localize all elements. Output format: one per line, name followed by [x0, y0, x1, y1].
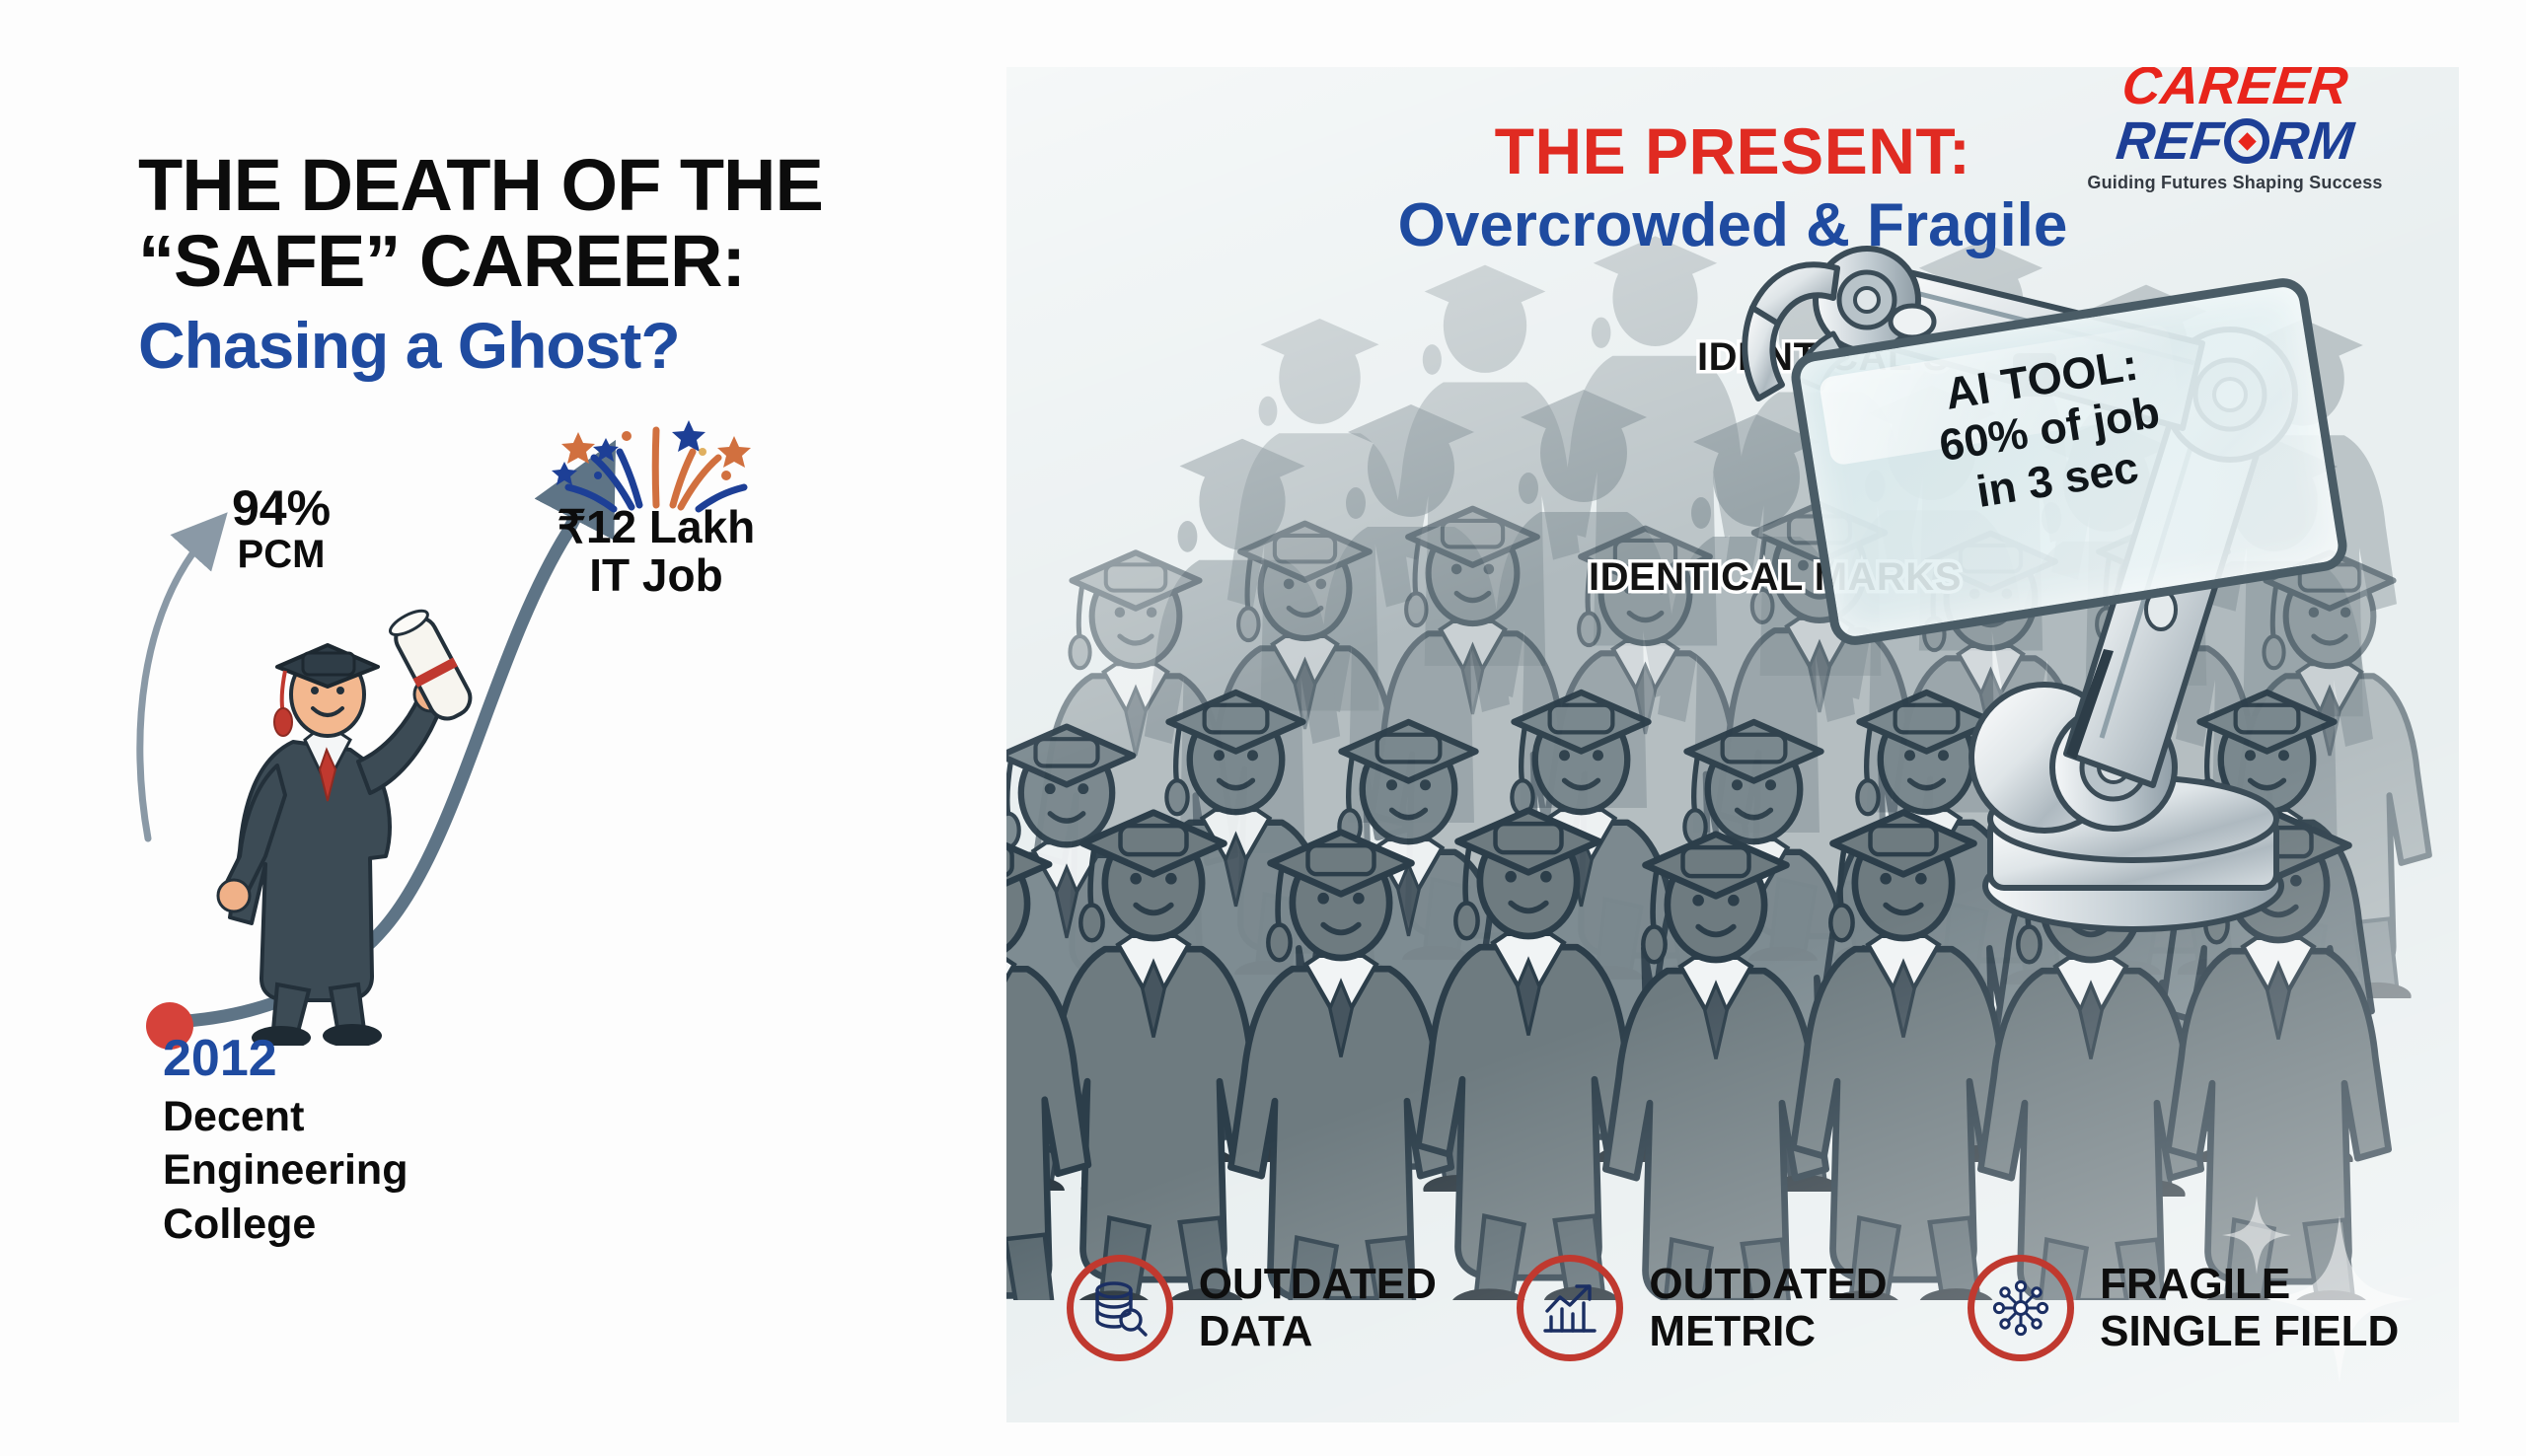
- badge-outdated-data: OUTDATED DATA: [1067, 1255, 1437, 1361]
- timeline-year: 2012: [163, 1031, 408, 1087]
- right-panel-present: THE PRESENT: Overcrowded & Fragile CAREE…: [1006, 67, 2459, 1422]
- badge-outdated-metric: OUTDATED METRIC: [1517, 1255, 1887, 1361]
- robot-arm-zone: AI TOOL: 60% of job in 3 sec: [1719, 205, 2459, 935]
- database-search-icon: [1089, 1277, 1151, 1339]
- badge-2-line-2: METRIC: [1649, 1307, 1816, 1355]
- badge-ring-3: [1968, 1255, 2074, 1361]
- bullseye-target-icon: [2224, 118, 2269, 164]
- logo-reform-part2: RM: [2267, 114, 2356, 168]
- badge-label-2: OUTDATED METRIC: [1649, 1261, 1887, 1356]
- stat-percent-value: 94%: [202, 483, 360, 534]
- left-panel-past: THE DEATH OF THE “SAFE” CAREER: Chasing …: [0, 0, 1016, 1456]
- logo-word-career: CAREER: [2069, 67, 2401, 112]
- bar-chart-trend-icon: [1539, 1277, 1600, 1339]
- network-hub-icon: [1990, 1277, 2051, 1339]
- logo-word-reform: REF RM: [2069, 114, 2401, 168]
- headline-line-2: “SAFE” CAREER:: [138, 224, 947, 300]
- timeline-desc-3: College: [163, 1201, 408, 1248]
- timeline-desc-1: Decent: [163, 1093, 408, 1140]
- badge-fragile-single-field: FRAGILE SINGLE FIELD: [1968, 1255, 2399, 1361]
- infographic-canvas: THE DEATH OF THE “SAFE” CAREER: Chasing …: [0, 0, 2526, 1456]
- badge-2-line-1: OUTDATED: [1649, 1260, 1887, 1308]
- outcome-line-1: ₹12 Lakh: [523, 503, 789, 551]
- headline-block: THE DEATH OF THE “SAFE” CAREER: Chasing …: [138, 148, 947, 382]
- stat-subject-value: PCM: [202, 534, 360, 575]
- badge-ring-1: [1067, 1255, 1173, 1361]
- badge-label-1: OUTDATED DATA: [1199, 1261, 1437, 1356]
- career-reform-logo: CAREER REF RM Guiding Futures Shaping Su…: [2072, 67, 2398, 193]
- badge-label-3: FRAGILE SINGLE FIELD: [2100, 1261, 2399, 1356]
- outcome-salary-label: ₹12 Lakh IT Job: [523, 503, 789, 600]
- stat-pcm-label: 94% PCM: [202, 483, 360, 575]
- timeline-year-block: 2012 Decent Engineering College: [163, 1031, 408, 1248]
- logo-tagline: Guiding Futures Shaping Success: [2072, 173, 2398, 193]
- graduate-illustration: [183, 592, 508, 1046]
- badge-3-line-1: FRAGILE: [2100, 1260, 2290, 1308]
- badge-1-line-1: OUTDATED: [1199, 1260, 1437, 1308]
- badge-ring-2: [1517, 1255, 1623, 1361]
- badges-row: OUTDATED DATA: [1026, 1239, 2439, 1377]
- timeline-desc-2: Engineering: [163, 1146, 408, 1194]
- outcome-line-2: IT Job: [523, 551, 789, 600]
- headline-subtitle: Chasing a Ghost?: [138, 310, 947, 382]
- headline-line-1: THE DEATH OF THE: [138, 148, 947, 224]
- badge-1-line-2: DATA: [1199, 1307, 1313, 1355]
- logo-reform-part1: REF: [2114, 114, 2226, 168]
- badge-3-line-2: SINGLE FIELD: [2100, 1307, 2399, 1355]
